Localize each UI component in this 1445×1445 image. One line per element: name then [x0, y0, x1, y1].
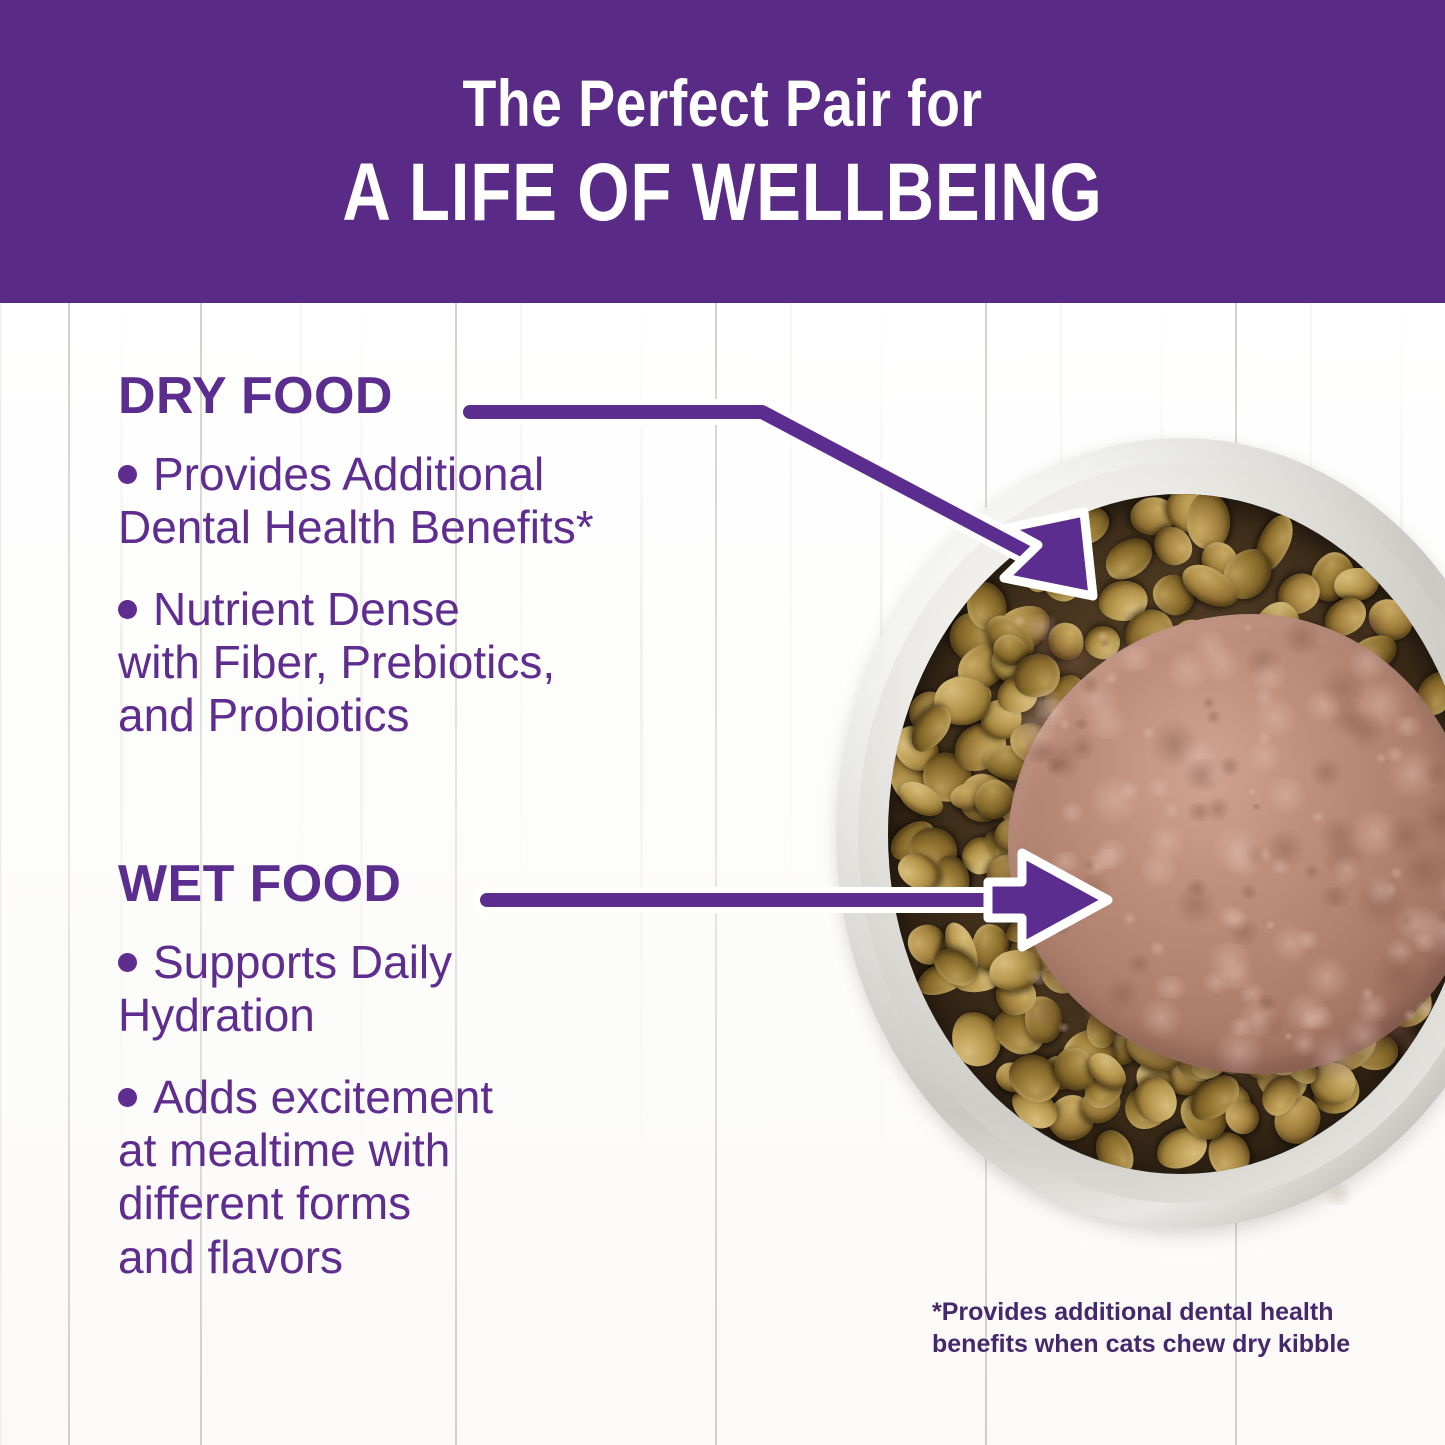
wet-food-heading: WET FOOD — [118, 858, 818, 910]
pate-texture — [1179, 758, 1225, 791]
pate-texture — [1262, 777, 1310, 812]
pate-texture — [1184, 802, 1215, 822]
pate-texture — [1247, 788, 1258, 794]
pet-food-bowl-image — [836, 438, 1445, 1250]
pate-texture — [1263, 828, 1307, 869]
list-item: Adds excitement at mealtime with differe… — [118, 1071, 818, 1284]
pate-texture — [1224, 839, 1263, 880]
bullet-text-line: and flavors — [118, 1231, 343, 1283]
header-banner: The Perfect Pair for A LIFE OF WELLBEING — [0, 0, 1445, 303]
banner-title-line1: The Perfect Pair for — [463, 70, 983, 136]
pate-texture — [1372, 948, 1423, 1003]
bullet-dot-icon — [118, 953, 137, 972]
pate-texture — [1250, 804, 1263, 811]
list-item: Provides Additional Dental Health Benefi… — [118, 448, 818, 555]
pate-texture — [1318, 815, 1360, 857]
dry-food-bullet-list: Provides Additional Dental Health Benefi… — [118, 448, 818, 743]
plank-seam — [68, 303, 70, 1445]
bullet-text-line: and Probiotics — [118, 689, 410, 741]
footnote-line2: benefits when cats chew dry kibble — [932, 1328, 1362, 1360]
pate-texture — [1389, 716, 1426, 736]
dry-food-heading: DRY FOOD — [118, 370, 818, 422]
pate-texture — [1149, 940, 1166, 956]
bullet-text-line: Nutrient Dense — [153, 583, 460, 635]
kibble-piece — [1089, 1123, 1142, 1174]
bullet-text-line: Adds excitement — [153, 1071, 493, 1123]
pate-texture — [1087, 849, 1125, 870]
wet-food-section: WET FOOD Supports Daily Hydration Adds e… — [118, 858, 818, 1312]
pate-texture — [1264, 921, 1277, 929]
pate-texture — [1412, 688, 1435, 706]
footnote-line1: *Provides additional dental health — [932, 1296, 1362, 1328]
banner-title-line2: A LIFE OF WELLBEING — [342, 152, 1102, 234]
list-item: Supports Daily Hydration — [118, 936, 818, 1043]
pate-texture — [1009, 708, 1061, 753]
pate-texture — [1139, 728, 1157, 738]
pate-texture — [1079, 674, 1101, 695]
bowl-interior — [888, 494, 1445, 1174]
bullet-dot-icon — [118, 600, 137, 619]
pate-texture — [1138, 997, 1184, 1039]
pate-texture — [1112, 646, 1158, 671]
pate-texture — [1101, 672, 1121, 683]
bullet-text-line: at mealtime with — [118, 1124, 450, 1176]
pate-texture — [1070, 869, 1112, 910]
pate-texture — [1042, 745, 1085, 778]
bullet-text-line: with Fiber, Prebiotics, — [118, 636, 555, 688]
pate-texture — [1047, 852, 1084, 871]
pate-texture — [1254, 995, 1280, 1011]
bullet-dot-icon — [118, 1088, 137, 1107]
pate-texture — [1278, 621, 1326, 653]
pate-texture — [1060, 800, 1084, 825]
pate-texture — [1387, 746, 1439, 802]
pate-texture — [1143, 779, 1175, 797]
pate-texture — [1050, 922, 1073, 934]
pate-texture — [1117, 780, 1141, 800]
bullet-text-line: Hydration — [118, 989, 315, 1041]
pate-texture — [1103, 976, 1142, 1012]
bullet-text-line: Dental Health Benefits* — [118, 501, 594, 553]
pate-texture — [1146, 823, 1186, 860]
pate-texture — [1308, 757, 1345, 788]
infographic-canvas: The Perfect Pair for A LIFE OF WELLBEING… — [0, 0, 1445, 1445]
bullet-dot-icon — [118, 465, 137, 484]
footnote: *Provides additional dental health benef… — [932, 1296, 1362, 1360]
pate-texture — [1412, 1002, 1439, 1016]
pate-texture — [1040, 635, 1051, 646]
pate-texture — [1096, 631, 1109, 642]
pate-texture — [1161, 803, 1181, 818]
pate-texture — [1202, 696, 1216, 710]
pate-texture — [1243, 624, 1253, 632]
wet-food-bullet-list: Supports Daily Hydration Adds excitement… — [118, 936, 818, 1284]
pate-texture — [1149, 976, 1193, 999]
pate-texture — [1249, 658, 1288, 695]
pate-texture — [1246, 739, 1282, 774]
kibble-piece — [1098, 530, 1159, 588]
pate-texture — [1058, 719, 1072, 729]
pate-texture — [1024, 970, 1051, 985]
pate-texture — [1355, 874, 1406, 930]
pate-texture — [1285, 988, 1329, 1037]
pate-texture — [1303, 863, 1321, 881]
pate-texture — [1072, 719, 1090, 730]
pate-texture — [1020, 913, 1039, 927]
pate-texture — [1202, 644, 1240, 684]
dry-food-section: DRY FOOD Provides Additional Dental Heal… — [118, 370, 818, 771]
pate-texture — [1314, 887, 1355, 908]
pate-texture — [1122, 912, 1138, 925]
pate-texture — [1318, 664, 1369, 712]
pate-texture — [1236, 885, 1261, 900]
kibble-piece — [1058, 499, 1116, 553]
pate-texture — [1293, 931, 1322, 949]
bullet-text-line: different forms — [118, 1177, 411, 1229]
kibble-piece — [1187, 494, 1230, 549]
pate-texture — [1083, 1008, 1098, 1021]
pate-texture — [1127, 951, 1151, 977]
list-item: Nutrient Dense with Fiber, Prebiotics, a… — [118, 583, 818, 743]
pate-texture — [1289, 1031, 1319, 1056]
pate-texture — [1052, 646, 1098, 678]
pate-texture — [1331, 852, 1362, 886]
pate-texture — [1251, 697, 1299, 739]
bullet-text-line: Provides Additional — [153, 448, 544, 500]
pate-texture — [1345, 709, 1386, 750]
pate-texture — [1205, 709, 1222, 725]
bullet-text-line: Supports Daily — [153, 936, 452, 988]
pate-texture — [1056, 1023, 1072, 1031]
pate-texture — [1183, 879, 1211, 897]
pate-texture — [1017, 937, 1032, 947]
